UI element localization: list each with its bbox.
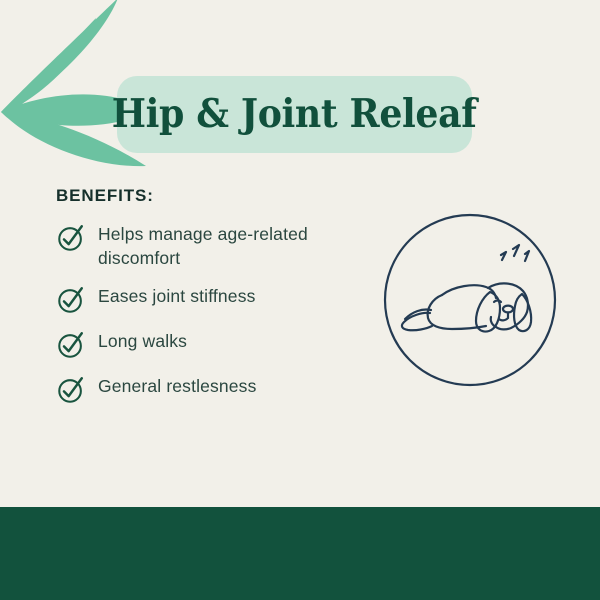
list-item: Helps manage age-related discomfort	[56, 222, 366, 270]
check-circle-icon	[56, 330, 86, 360]
list-item-label: Long walks	[98, 329, 187, 354]
check-circle-icon	[56, 223, 86, 253]
check-circle-icon	[56, 285, 86, 315]
list-item-label: General restlesness	[98, 374, 256, 399]
list-item-label: Eases joint stiffness	[98, 284, 256, 309]
list-item: General restlesness	[56, 374, 366, 405]
list-item: Eases joint stiffness	[56, 284, 366, 315]
footer-band	[0, 507, 600, 600]
resting-dog-in-circle-icon	[382, 212, 558, 388]
list-item-label: Helps manage age-related discomfort	[98, 222, 366, 270]
list-item: Long walks	[56, 329, 366, 360]
benefits-heading: BENEFITS:	[56, 186, 366, 206]
title-pill: Hip & Joint Releaf	[117, 76, 472, 153]
page-title: Hip & Joint Releaf	[112, 95, 477, 134]
check-circle-icon	[56, 375, 86, 405]
benefits-section: BENEFITS: Helps manage age-related disco…	[56, 186, 366, 419]
poster-canvas: Hip & Joint Releaf BENEFITS: Helps manag…	[0, 0, 600, 600]
